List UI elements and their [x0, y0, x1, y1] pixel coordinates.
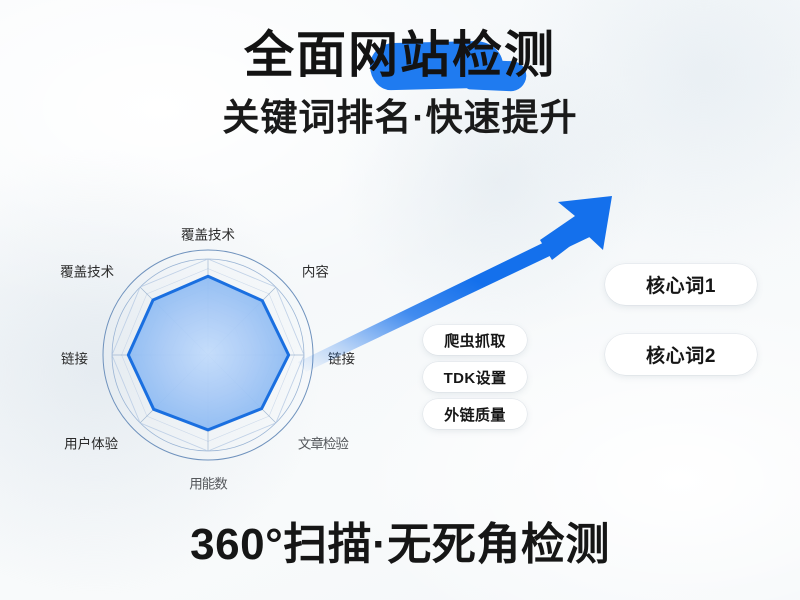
title-block: 全面网站检测 关键词排名·快速提升 [0, 30, 800, 136]
radar-axis-label-3: 文章检验 [298, 435, 349, 451]
radar-axis-label-4: 用能数 [189, 477, 228, 492]
page-footer-title: 360°扫描·无死角检测 [0, 523, 800, 567]
tag-backlink-label: 外链质量 [444, 404, 506, 425]
radar-axis-label-1: 内容 [302, 264, 329, 280]
page-title: 全面网站检测 [244, 30, 556, 80]
page-subtitle: 关键词排名·快速提升 [0, 99, 800, 136]
radar-data-series [128, 276, 288, 430]
radar-chart-svg: 覆盖技术内容链接文章检验用能数用户体验链接覆盖技术 [38, 192, 438, 512]
poster-canvas: 全面网站检测 关键词排名·快速提升 360°扫描·无死角检测 [0, 0, 800, 600]
tag-crawl-label: 爬虫抓取 [444, 330, 506, 351]
radar-axis-label-0: 覆盖技术 [181, 228, 235, 243]
keyword-card-1[interactable]: 核心词1 [605, 264, 757, 305]
keyword-card-2-label: 核心词2 [646, 341, 716, 368]
radar-axis-label-6: 链接 [61, 351, 88, 367]
tag-tdk-label: TDK设置 [444, 367, 507, 388]
page-title-text: 全面网站检测 [244, 27, 556, 83]
radar-axis-label-5: 用户体验 [64, 435, 118, 451]
radar-chart: 覆盖技术内容链接文章检验用能数用户体验链接覆盖技术 [38, 192, 438, 512]
tag-crawl[interactable]: 爬虫抓取 [423, 325, 527, 355]
radar-axis-label-2: 链接 [328, 351, 355, 367]
tag-tdk[interactable]: TDK设置 [423, 362, 527, 392]
tag-backlink[interactable]: 外链质量 [423, 399, 527, 429]
radar-axis-label-7: 覆盖技术 [60, 265, 114, 280]
keyword-card-1-label: 核心词1 [646, 271, 716, 298]
keyword-card-2[interactable]: 核心词2 [605, 334, 757, 375]
